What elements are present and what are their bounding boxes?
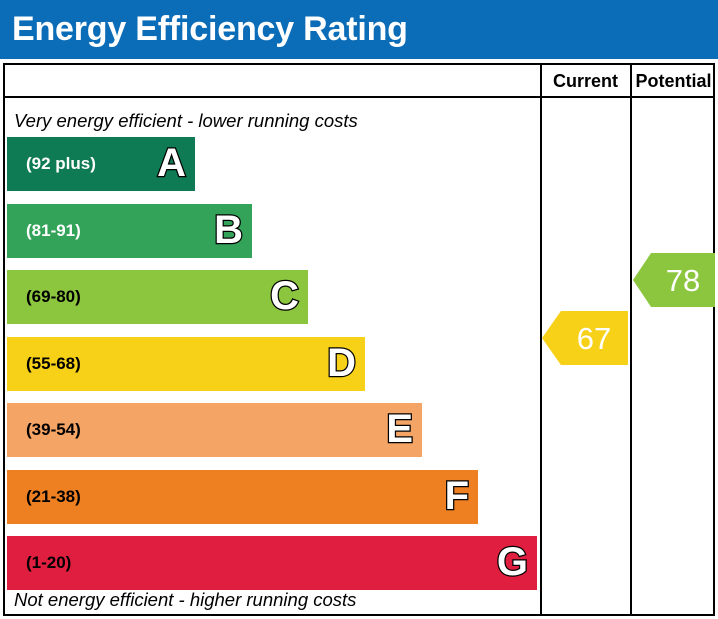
band-letter-b: B [214, 210, 243, 250]
column-divider-potential [630, 63, 632, 616]
rating-band-a: (92 plus)A [7, 137, 195, 191]
column-header-potential: Potential [632, 68, 715, 94]
rating-band-e: (39-54)E [7, 403, 422, 457]
band-range-label: (39-54) [26, 420, 81, 440]
rating-band-c: (69-80)C [7, 270, 308, 324]
rating-band-g: (1-20)G [7, 536, 537, 590]
band-range-label: (1-20) [26, 553, 71, 573]
rating-marker-potential: 78 [633, 253, 715, 307]
rating-value-current: 67 [542, 311, 628, 365]
band-letter-c: C [270, 276, 299, 316]
band-letter-e: E [386, 409, 413, 449]
rating-band-b: (81-91)B [7, 204, 252, 258]
band-letter-a: A [157, 143, 186, 183]
rating-band-d: (55-68)D [7, 337, 365, 391]
band-range-label: (92 plus) [26, 154, 96, 174]
band-letter-d: D [327, 343, 356, 383]
energy-efficiency-rating-chart: Energy Efficiency Rating Current Potenti… [0, 0, 718, 619]
band-letter-f: F [445, 476, 469, 516]
column-header-current: Current [541, 68, 630, 94]
rating-value-potential: 78 [633, 253, 715, 307]
band-letter-g: G [497, 542, 528, 582]
band-range-label: (81-91) [26, 221, 81, 241]
rating-band-f: (21-38)F [7, 470, 478, 524]
band-range-label: (69-80) [26, 287, 81, 307]
rating-marker-current: 67 [542, 311, 628, 365]
band-range-label: (55-68) [26, 354, 81, 374]
band-range-label: (21-38) [26, 487, 81, 507]
rating-bands: (92 plus)A(81-91)B(69-80)C(55-68)D(39-54… [0, 0, 540, 619]
